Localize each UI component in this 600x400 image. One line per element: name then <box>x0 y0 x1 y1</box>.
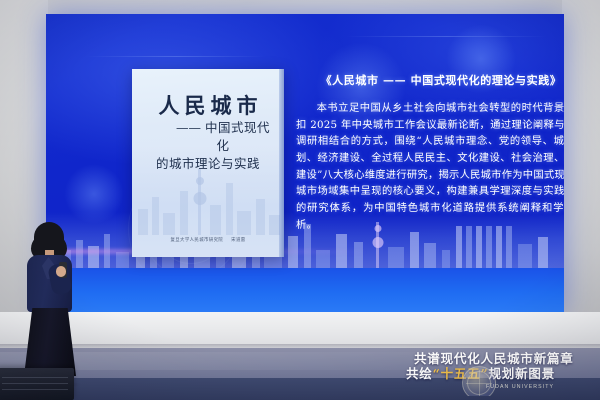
venue-right-wall <box>562 0 600 356</box>
book-cover-image: 人民城市 —— 中国式现代化 的城市理论与实践 复旦大学人民城市研究院宋道雷 <box>132 69 284 257</box>
book-spine <box>279 69 284 257</box>
banner-line2-prefix: 共绘 <box>406 366 433 381</box>
conference-stage-scene: 人民城市 —— 中国式现代化 的城市理论与实践 复旦大学人民城市研究院宋道雷 《… <box>0 0 600 400</box>
event-slogan-banner: 共谱现代化人民城市新篇章 共绘“十五五”规划新图景 FUDAN UNIVERSI… <box>398 352 600 396</box>
speaker-hand <box>56 266 66 277</box>
slide-body: 本书立足中国从乡土社会向城市社会转型的时代背景，紧扣 2025 年中央城市工作会… <box>296 100 564 233</box>
banner-line-2: 共绘“十五五”规划新图景 <box>406 367 600 382</box>
led-presentation-screen: 人民城市 —— 中国式现代化 的城市理论与实践 复旦大学人民城市研究院宋道雷 《… <box>46 14 564 312</box>
book-subtitle-line2: 的城市理论与实践 <box>142 155 274 173</box>
speaker-person <box>14 222 86 382</box>
fudan-university-wordmark: FUDAN UNIVERSITY <box>486 384 554 390</box>
decorative-line <box>346 36 546 37</box>
slide-body-paragraph: 本书立足中国从乡土社会向城市社会转型的时代背景，紧扣 2025 年中央城市工作会… <box>296 100 564 233</box>
fudan-university-globe-logo <box>462 366 496 396</box>
decorative-line <box>86 56 266 57</box>
book-author: 宋道雷 <box>231 238 245 243</box>
banner-line-1: 共谱现代化人民城市新篇章 <box>414 352 600 367</box>
stage-skirt-wall <box>0 312 600 348</box>
slide-title: 《人民城市 —— 中国式现代化的理论与实践》 <box>296 72 564 88</box>
screen-bottom-glow <box>46 268 564 312</box>
book-publisher-line: 复旦大学人民城市研究院宋道雷 <box>132 237 284 243</box>
book-title: 人民城市 <box>132 95 284 116</box>
stage-monitor-wedge <box>0 368 74 400</box>
banner-line2-suffix: 规划新图景 <box>489 366 556 381</box>
book-subtitle: —— 中国式现代化 的城市理论与实践 <box>142 119 274 173</box>
book-subtitle-line1: 中国式现代化 <box>205 120 270 153</box>
speaker-skirt <box>24 308 76 376</box>
slide-text-block: 《人民城市 —— 中国式现代化的理论与实践》 本书立足中国从乡土社会向城市社会转… <box>296 72 564 233</box>
book-publisher: 复旦大学人民城市研究院 <box>170 238 223 243</box>
